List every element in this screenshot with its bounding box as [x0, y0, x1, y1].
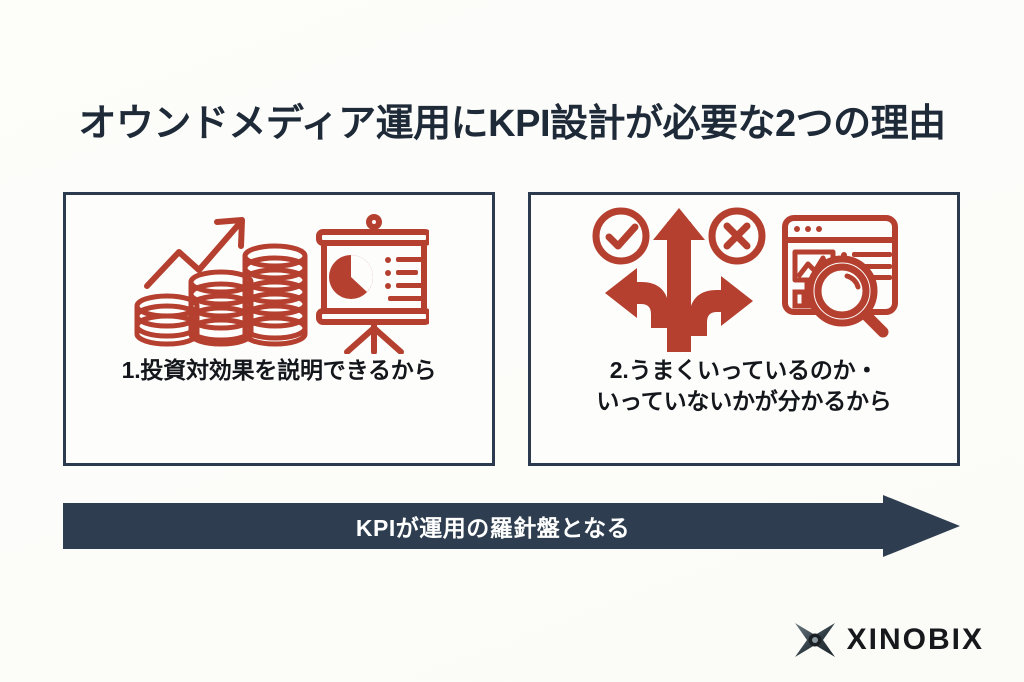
- right-arrow-banner-icon: [63, 495, 960, 557]
- card-1-caption: 1.投資対効果を説明できるから: [66, 355, 492, 386]
- slide-canvas: オウンドメディア運用にKPI設計が必要な2つの理由: [0, 0, 1024, 682]
- reason-card-1: 1.投資対効果を説明できるから: [63, 192, 495, 466]
- card-1-caption-line1: 1.投資対効果を説明できるから: [122, 357, 437, 383]
- card-2-caption: 2.うまくいっているのか・ いっていないかが分かるから: [531, 355, 957, 417]
- analysis-illustration-icon: [589, 204, 899, 354]
- card-2-caption-line2: いっていないかが分かるから: [539, 386, 949, 417]
- card-2-illustration: [531, 195, 957, 355]
- shuriken-star-icon: [793, 620, 837, 660]
- brand-logo: XINOBIX: [793, 620, 984, 660]
- card-2-caption-line1: 2.うまくいっているのか・: [610, 357, 878, 383]
- roi-illustration-icon: [129, 204, 429, 354]
- brand-logo-text: XINOBIX: [847, 623, 984, 657]
- conclusion-banner: KPIが運用の羅針盤となる: [63, 495, 960, 557]
- magnifier-icon: [810, 259, 883, 332]
- check-circle-icon: [596, 211, 646, 261]
- card-1-illustration: [66, 195, 492, 355]
- page-title: オウンドメディア運用にKPI設計が必要な2つの理由: [0, 100, 1024, 148]
- x-circle-icon: [712, 211, 762, 261]
- reason-card-2: 2.うまくいっているのか・ いっていないかが分かるから: [528, 192, 960, 466]
